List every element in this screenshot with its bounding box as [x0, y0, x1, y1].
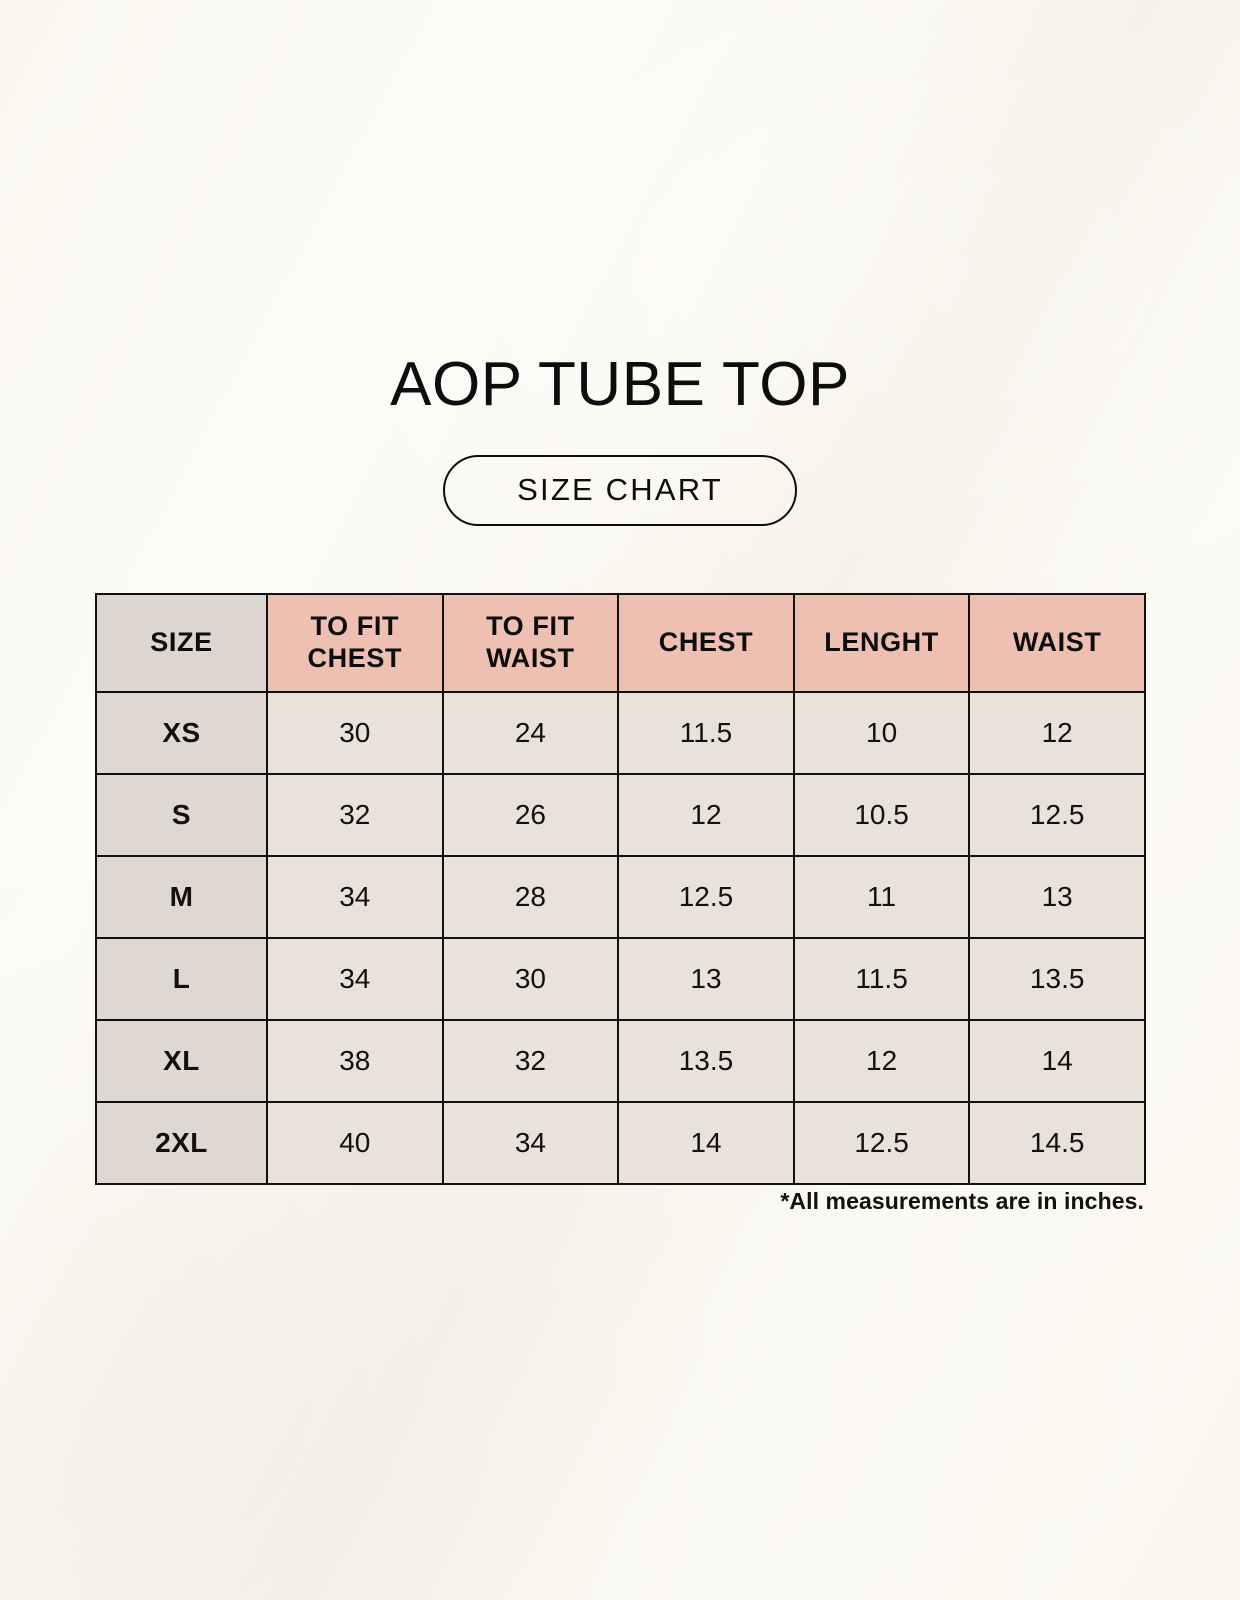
- table-row: S 32 26 12 10.5 12.5: [96, 774, 1145, 856]
- cell-size: M: [96, 856, 267, 938]
- cell-waist: 12: [969, 692, 1145, 774]
- size-chart-table: SIZE TO FIT CHEST TO FIT WAIST CHEST LEN…: [95, 593, 1146, 1185]
- cell-lenght: 11: [794, 856, 970, 938]
- cell-to-fit-chest: 34: [267, 856, 443, 938]
- cell-to-fit-waist: 30: [443, 938, 619, 1020]
- table-row: L 34 30 13 11.5 13.5: [96, 938, 1145, 1020]
- table-row: M 34 28 12.5 11 13: [96, 856, 1145, 938]
- cell-to-fit-chest: 32: [267, 774, 443, 856]
- column-header-chest: CHEST: [618, 594, 794, 692]
- header-block: AOP TUBE TOP SIZE CHART: [0, 352, 1240, 526]
- cell-waist: 13: [969, 856, 1145, 938]
- cell-size: L: [96, 938, 267, 1020]
- table-row: 2XL 40 34 14 12.5 14.5: [96, 1102, 1145, 1184]
- cell-chest: 14: [618, 1102, 794, 1184]
- cell-lenght: 11.5: [794, 938, 970, 1020]
- cell-lenght: 12.5: [794, 1102, 970, 1184]
- cell-to-fit-chest: 38: [267, 1020, 443, 1102]
- cell-to-fit-chest: 30: [267, 692, 443, 774]
- cell-lenght: 10: [794, 692, 970, 774]
- table-header: SIZE TO FIT CHEST TO FIT WAIST CHEST LEN…: [96, 594, 1145, 692]
- cell-lenght: 12: [794, 1020, 970, 1102]
- cell-size: S: [96, 774, 267, 856]
- cell-chest: 12.5: [618, 856, 794, 938]
- cell-chest: 11.5: [618, 692, 794, 774]
- cell-size: XL: [96, 1020, 267, 1102]
- column-header-to-fit-chest: TO FIT CHEST: [267, 594, 443, 692]
- table-row: XS 30 24 11.5 10 12: [96, 692, 1145, 774]
- size-chart-page: AOP TUBE TOP SIZE CHART SIZE TO FIT CHES…: [0, 0, 1240, 1600]
- cell-to-fit-waist: 28: [443, 856, 619, 938]
- cell-to-fit-waist: 26: [443, 774, 619, 856]
- column-header-size: SIZE: [96, 594, 267, 692]
- cell-to-fit-waist: 34: [443, 1102, 619, 1184]
- column-header-waist: WAIST: [969, 594, 1145, 692]
- table-row: XL 38 32 13.5 12 14: [96, 1020, 1145, 1102]
- cell-to-fit-waist: 32: [443, 1020, 619, 1102]
- cell-waist: 12.5: [969, 774, 1145, 856]
- cell-to-fit-waist: 24: [443, 692, 619, 774]
- cell-waist: 14: [969, 1020, 1145, 1102]
- table-body: XS 30 24 11.5 10 12 S 32 26 12 10.5 12.5…: [96, 692, 1145, 1184]
- page-title: AOP TUBE TOP: [0, 352, 1240, 417]
- size-chart-pill: SIZE CHART: [443, 455, 797, 526]
- measurement-note: *All measurements are in inches.: [95, 1188, 1144, 1215]
- cell-chest: 13.5: [618, 1020, 794, 1102]
- cell-lenght: 10.5: [794, 774, 970, 856]
- size-table-container: SIZE TO FIT CHEST TO FIT WAIST CHEST LEN…: [95, 593, 1144, 1185]
- cell-size: XS: [96, 692, 267, 774]
- cell-chest: 13: [618, 938, 794, 1020]
- column-header-to-fit-waist: TO FIT WAIST: [443, 594, 619, 692]
- column-header-lenght: LENGHT: [794, 594, 970, 692]
- cell-waist: 13.5: [969, 938, 1145, 1020]
- cell-to-fit-chest: 40: [267, 1102, 443, 1184]
- table-header-row: SIZE TO FIT CHEST TO FIT WAIST CHEST LEN…: [96, 594, 1145, 692]
- cell-chest: 12: [618, 774, 794, 856]
- cell-size: 2XL: [96, 1102, 267, 1184]
- cell-waist: 14.5: [969, 1102, 1145, 1184]
- cell-to-fit-chest: 34: [267, 938, 443, 1020]
